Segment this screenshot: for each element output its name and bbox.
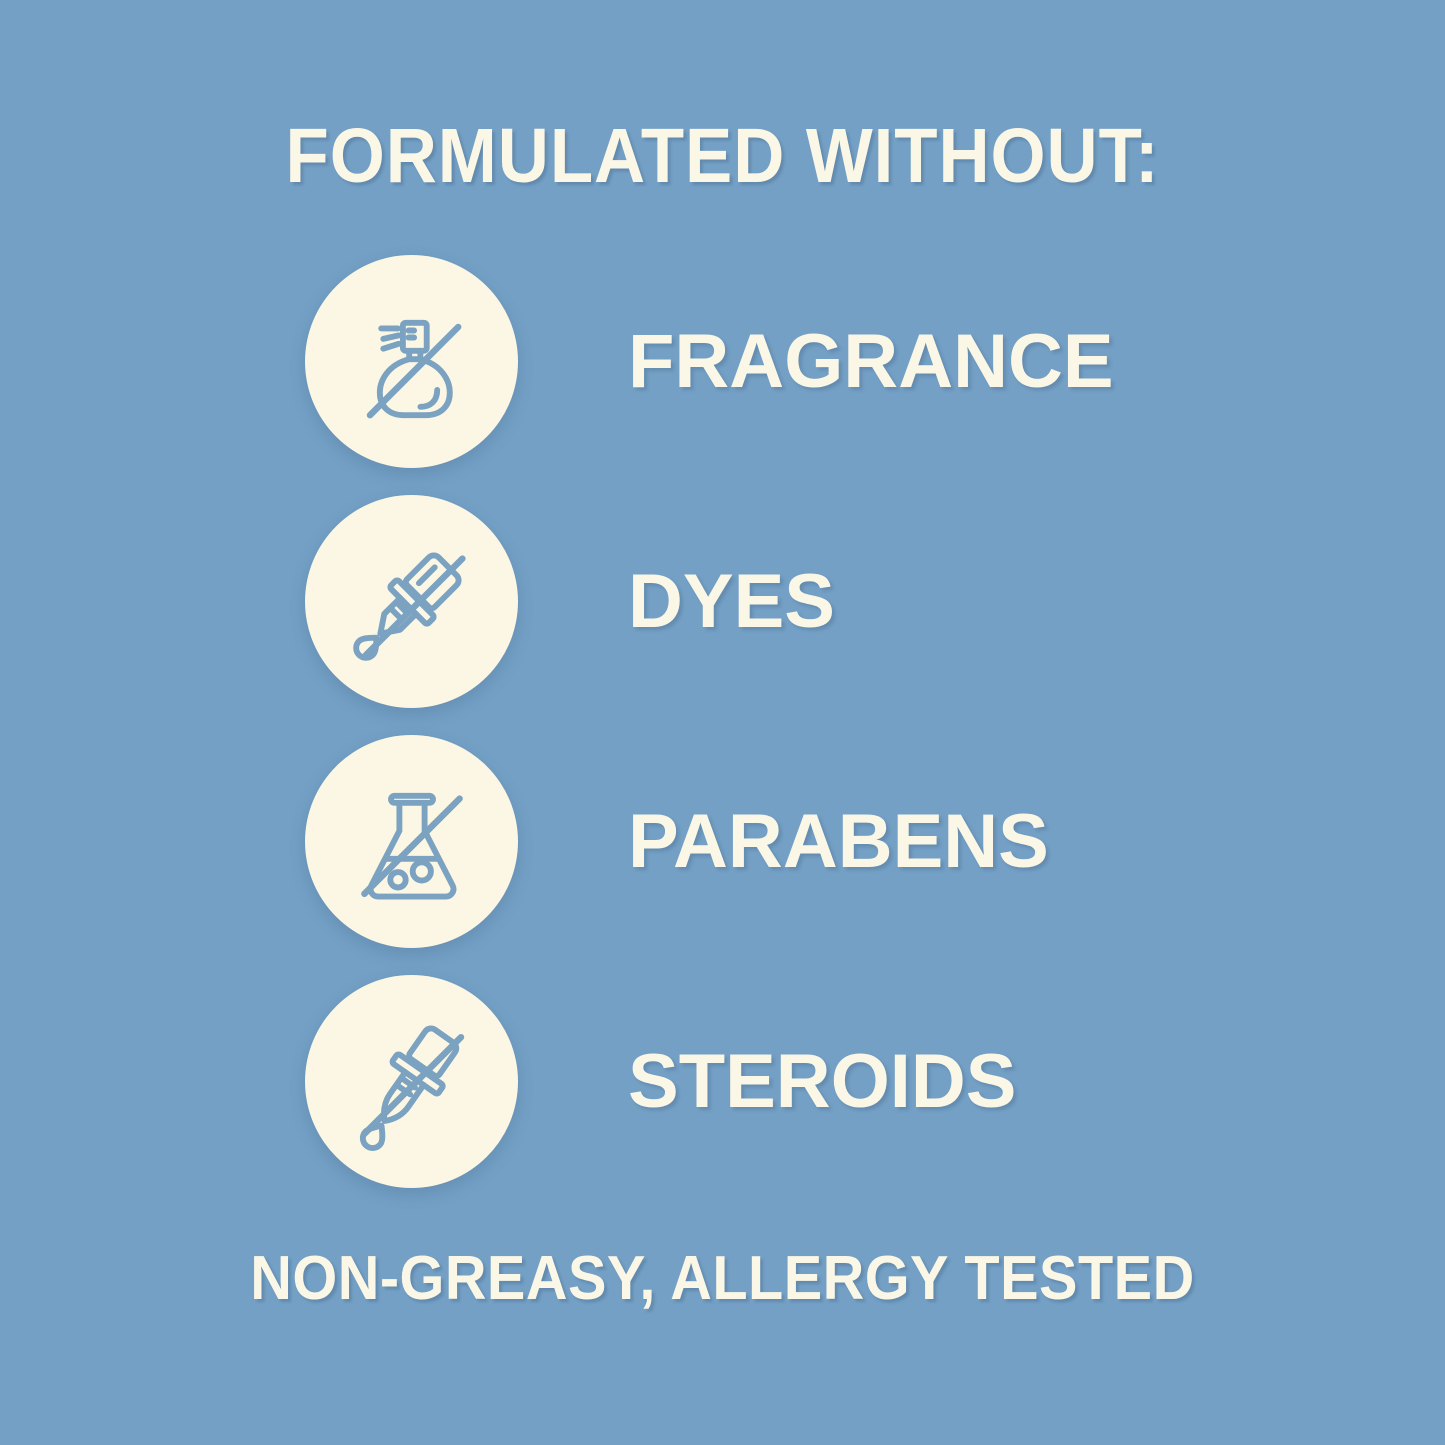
list-item: STEROIDS: [0, 975, 1445, 1188]
list-item: FRAGRANCE: [0, 255, 1445, 468]
list-item-label: PARABENS: [628, 804, 1049, 880]
list-item-label: FRAGRANCE: [628, 324, 1114, 400]
formulated-without-infographic: FORMULATED WITHOUT:: [0, 0, 1445, 1445]
no-perfume-bottle-icon: [305, 255, 518, 468]
no-dye-applicator-icon: [305, 495, 518, 708]
list-item-label: STEROIDS: [628, 1044, 1017, 1120]
page-title: FORMULATED WITHOUT:: [58, 118, 1387, 195]
list-item-label: DYES: [628, 564, 835, 640]
no-dropper-icon: [305, 975, 518, 1188]
footer-claim: NON-GREASY, ALLERGY TESTED: [51, 1248, 1395, 1310]
list-item: DYES: [0, 495, 1445, 708]
excluded-ingredients-list: FRAGRANCE: [0, 255, 1445, 1215]
no-flask-icon: [305, 735, 518, 948]
list-item: PARABENS: [0, 735, 1445, 948]
